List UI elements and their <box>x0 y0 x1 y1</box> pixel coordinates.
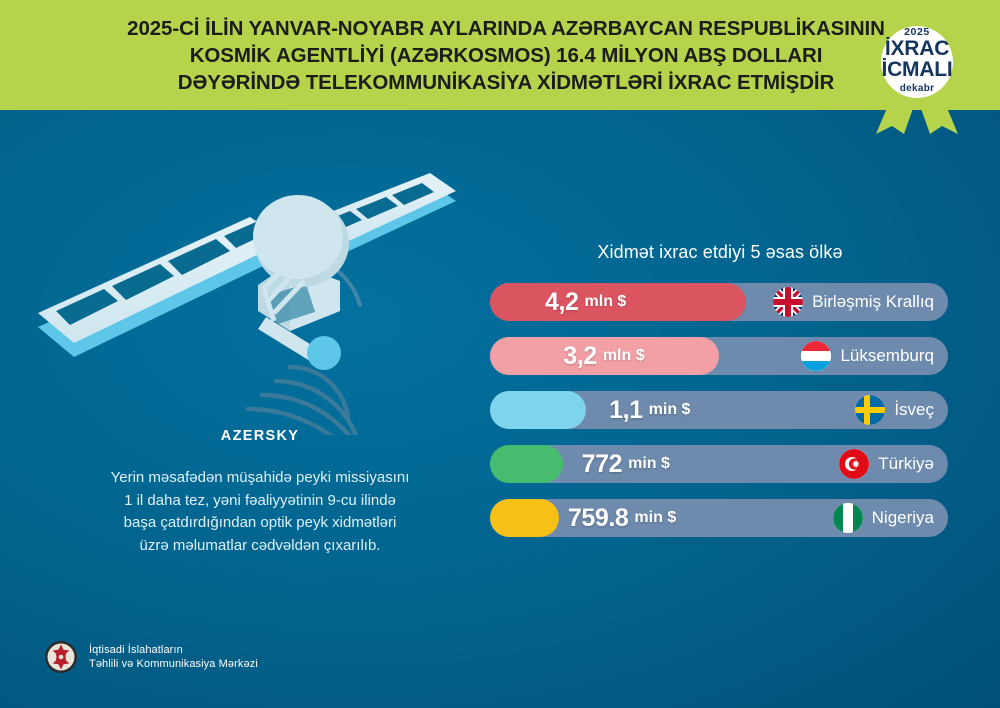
flag-luxembourg-icon <box>801 341 831 371</box>
bar-unit: min $ <box>634 509 676 527</box>
badge-rosette-icon <box>858 8 976 134</box>
bar-value-group: 4,2 mln $ <box>545 283 626 321</box>
page-title: 2025-Cİ İLİN YANVAR-NOYABR AYLARINDA AZƏ… <box>79 15 921 96</box>
bar-country-label: Türkiyə <box>878 454 934 474</box>
bar-country-group: Türkiyə <box>839 445 934 483</box>
bar-unit: min $ <box>628 455 670 473</box>
bar-country-group: Lüksemburq <box>801 337 934 375</box>
bar-value: 4,2 <box>545 288 579 317</box>
bar-country-group: Birləşmiş Krallıq <box>773 283 934 321</box>
bar-fill <box>490 391 586 429</box>
bar-country-label: Birləşmiş Krallıq <box>812 292 934 312</box>
country-bar-chart: 4,2 mln $ Birləş <box>490 283 950 553</box>
azerbaijan-star-emblem-icon <box>44 640 78 674</box>
satellite-icon <box>18 105 468 435</box>
bar-value-group: 772 min $ <box>582 445 670 483</box>
satellite-illustration <box>18 105 468 435</box>
bar-value: 1,1 <box>609 396 643 425</box>
bar-row-isvec[interactable]: 1,1 min $ İsveç <box>490 391 948 429</box>
chart-title: Xidmət ixrac etdiyi 5 əsas ölkə <box>480 242 960 263</box>
bar-fill <box>490 499 559 537</box>
ixrac-icmali-badge: 2025 İXRAC İCMALI dekabr <box>858 8 976 134</box>
bar-value-group: 3,2 mln $ <box>563 337 644 375</box>
bar-unit: mln $ <box>585 293 627 311</box>
footer-organization-name: İqtisadi İslahatların Təhlili və Kommuni… <box>89 643 258 671</box>
bar-row-turkiye[interactable]: 772 min $ Türkiyə <box>490 445 948 483</box>
flag-sweden-icon <box>855 395 885 425</box>
bar-value-group: 1,1 min $ <box>609 391 690 429</box>
infographic-canvas: 2025-Cİ İLİN YANVAR-NOYABR AYLARINDA AZƏ… <box>0 0 1000 708</box>
flag-turkiye-icon <box>839 449 869 479</box>
bar-value: 759.8 <box>568 504 629 533</box>
bar-value-group: 759.8 min $ <box>568 499 676 537</box>
azersky-title: AZERSKY <box>40 428 480 444</box>
flag-united-kingdom-icon <box>773 287 803 317</box>
bar-country-group: İsveç <box>855 391 934 429</box>
bar-country-label: Nigeriya <box>872 508 934 528</box>
bar-value: 772 <box>582 450 623 479</box>
bar-value: 3,2 <box>563 342 597 371</box>
bar-fill <box>490 445 563 483</box>
bar-row-birlesmis-kralliq[interactable]: 4,2 mln $ Birləş <box>490 283 948 321</box>
footer-logo-block: İqtisadi İslahatların Təhlili və Kommuni… <box>44 640 258 674</box>
bar-country-label: İsveç <box>894 400 934 420</box>
bar-country-group: Nigeriya <box>833 499 934 537</box>
bar-unit: mln $ <box>603 347 645 365</box>
bar-unit: min $ <box>649 401 691 419</box>
azersky-description: Yerin məsafədən müşahidə peyki missiyası… <box>40 467 480 557</box>
bar-row-luksemburq[interactable]: 3,2 mln $ Lüksemburq <box>490 337 948 375</box>
header-banner: 2025-Cİ İLİN YANVAR-NOYABR AYLARINDA AZƏ… <box>0 0 1000 110</box>
bar-row-nigeriya[interactable]: 759.8 min $ Nigeriya <box>490 499 948 537</box>
bar-country-label: Lüksemburq <box>840 346 934 366</box>
flag-nigeria-icon <box>833 503 863 533</box>
